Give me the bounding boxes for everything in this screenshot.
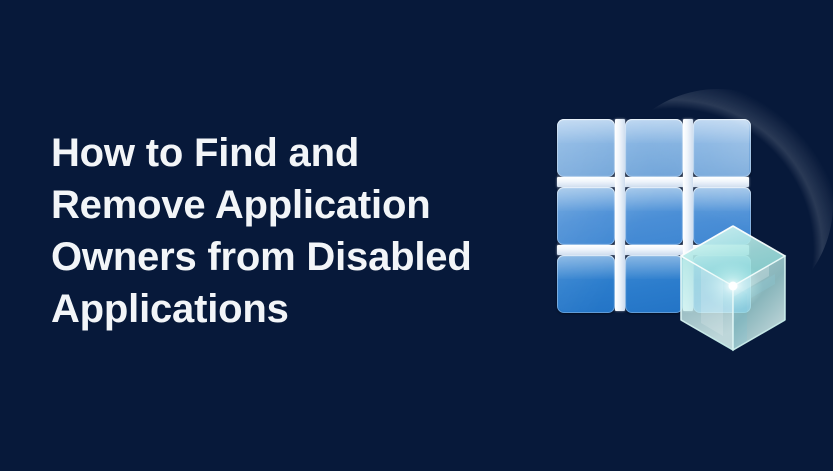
headline-line-4: Applications [51, 283, 531, 335]
glass-cube-icon [679, 224, 787, 352]
grid-divider-horizontal-1 [557, 177, 749, 187]
application-tiles-with-glass-cube-icon [551, 110, 796, 360]
grid-tile-2-1 [557, 187, 615, 245]
grid-tile-3-1 [557, 255, 615, 313]
grid-divider-vertical-1 [615, 119, 625, 311]
headline-line-2: Remove Application [51, 179, 531, 231]
article-banner: How to Find and Remove Application Owner… [0, 0, 833, 471]
headline-line-3: Owners from Disabled [51, 231, 531, 283]
headline-line-1: How to Find and [51, 127, 531, 179]
page-title: How to Find and Remove Application Owner… [51, 127, 531, 335]
grid-tile-1-1 [557, 119, 615, 177]
grid-tile-1-2 [625, 119, 683, 177]
grid-tile-3-2 [625, 255, 683, 313]
grid-tile-1-3 [693, 119, 751, 177]
grid-tile-2-2 [625, 187, 683, 245]
